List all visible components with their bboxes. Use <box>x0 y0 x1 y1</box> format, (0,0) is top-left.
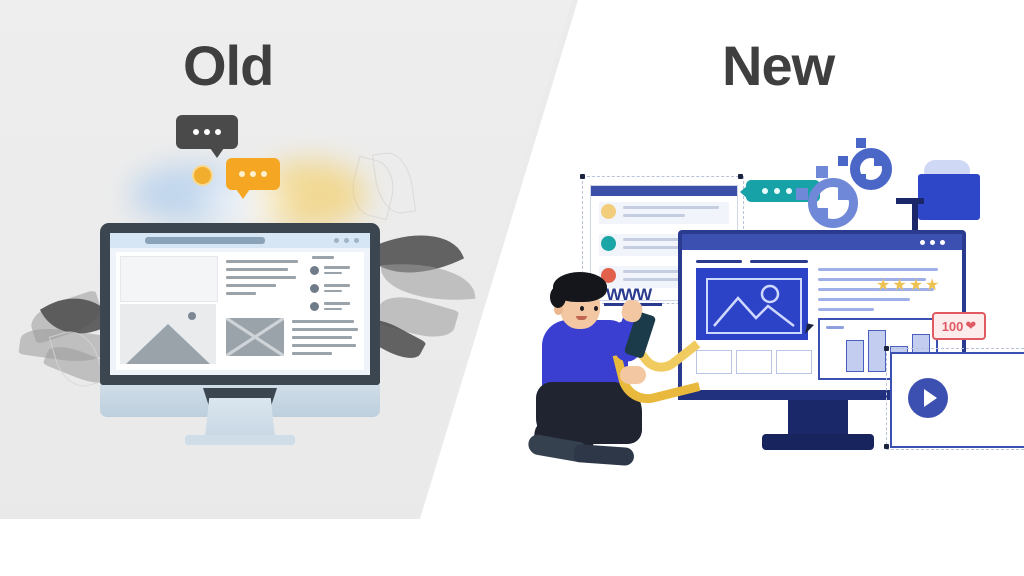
selection-handle[interactable] <box>738 174 743 179</box>
panel-line <box>623 206 719 209</box>
window-dot[interactable] <box>930 240 935 245</box>
bubble-dot <box>774 188 780 194</box>
play-button[interactable] <box>908 378 948 418</box>
person-hair <box>550 286 566 308</box>
old-monitor-base <box>185 435 295 445</box>
badge-count: 100 <box>942 319 964 334</box>
thumbnail-card[interactable] <box>696 350 732 374</box>
play-icon <box>924 389 937 407</box>
heart-icon: ❤ <box>965 318 976 334</box>
star-icon: ★ <box>909 278 923 294</box>
text-line <box>292 320 354 323</box>
browser-chrome <box>110 233 370 248</box>
bubble-dot <box>193 129 199 135</box>
list-bullet-icon <box>310 302 319 311</box>
text-line <box>292 336 352 339</box>
star-icon: ★ <box>892 278 906 294</box>
window-dot <box>334 238 339 243</box>
window-dot[interactable] <box>940 240 945 245</box>
chart-bar <box>868 330 886 372</box>
image-placeholder <box>120 304 216 364</box>
chart-axis-label <box>826 326 844 329</box>
selection-handle[interactable] <box>580 174 585 179</box>
likes-badge: 100 ❤ <box>932 312 986 340</box>
comparison-illustration: Old <box>0 0 1024 576</box>
gear-icon <box>808 178 858 228</box>
panel-line <box>623 278 685 281</box>
cursor-pointer-icon <box>805 323 814 335</box>
bubble-dot <box>762 188 768 194</box>
text-line <box>226 268 288 271</box>
thumbnail-card[interactable] <box>776 350 812 374</box>
gear-tooth <box>838 156 848 166</box>
gear-tooth <box>838 188 850 200</box>
mail-thumbnail-icon <box>226 318 284 356</box>
list-line <box>324 290 342 292</box>
text-line <box>226 276 296 279</box>
list-header-line <box>312 256 334 259</box>
bubble-dot <box>250 171 256 177</box>
list-line <box>324 308 342 310</box>
gear-tooth <box>856 138 866 148</box>
person-eye <box>594 306 598 311</box>
gear-tooth <box>874 156 884 166</box>
text-line <box>226 284 276 287</box>
url-bar <box>145 237 265 244</box>
list-bullet-icon <box>310 284 319 293</box>
image-dot-icon <box>188 312 196 320</box>
bubble-dot <box>204 129 210 135</box>
panel-line <box>623 214 685 217</box>
new-heading: New <box>722 38 834 94</box>
avatar-teal <box>601 236 616 251</box>
window-dot <box>344 238 349 243</box>
orange-chat-bubble-icon <box>226 158 280 190</box>
bubble-dot <box>261 171 267 177</box>
avatar-yellow <box>601 204 616 219</box>
thumbnail-card[interactable] <box>736 350 772 374</box>
gear-tooth <box>856 174 866 184</box>
dark-chat-bubble-icon <box>176 115 238 149</box>
person-eye <box>580 306 584 311</box>
window-dot[interactable] <box>920 240 925 245</box>
old-monitor-screen <box>110 233 370 375</box>
small-orange-circle-icon <box>192 165 213 186</box>
new-monitor-base <box>762 434 874 450</box>
new-illustration: WWW ★ ★ ★ ★ 100 ❤ <box>520 120 1024 520</box>
text-card <box>120 256 218 302</box>
list-line <box>324 302 350 305</box>
list-line <box>324 272 342 274</box>
list-line <box>324 266 350 269</box>
text-line <box>818 268 938 271</box>
image-frame-icon <box>706 278 802 334</box>
person-hand <box>620 366 646 384</box>
text-line <box>292 352 332 355</box>
text-line <box>292 344 356 347</box>
selection-handle[interactable] <box>884 346 889 351</box>
text-line <box>818 298 910 301</box>
folder-icon <box>918 174 980 220</box>
text-line <box>292 328 358 331</box>
old-monitor-stand <box>205 398 275 438</box>
person-shoe <box>573 444 634 466</box>
bubble-dot <box>786 188 792 194</box>
new-monitor-stand <box>788 400 848 436</box>
window-dot <box>354 238 359 243</box>
bubble-dot <box>239 171 245 177</box>
list-bullet-icon <box>310 266 319 275</box>
star-icon: ★ <box>876 278 890 294</box>
bubble-dot <box>215 129 221 135</box>
toolbar-line <box>750 260 808 263</box>
old-webpage <box>116 252 364 370</box>
star-rating: ★ ★ ★ ★ <box>876 278 939 294</box>
text-line <box>818 308 874 311</box>
text-line <box>226 292 256 295</box>
hero-image-placeholder <box>696 268 808 340</box>
old-illustration <box>0 0 520 519</box>
gear-tooth <box>816 208 828 220</box>
star-icon: ★ <box>925 278 939 294</box>
chart-bar <box>846 340 864 372</box>
text-line <box>226 260 298 263</box>
panel-line <box>623 246 685 249</box>
window-title-bar <box>682 234 962 250</box>
old-monitor <box>100 223 380 385</box>
gear-tooth <box>816 166 828 178</box>
gear-tooth <box>796 188 808 200</box>
toolbar-line <box>696 260 742 263</box>
selection-handle[interactable] <box>884 444 889 449</box>
connector-line <box>896 198 924 204</box>
panel-title-bar <box>591 186 737 196</box>
list-line <box>324 284 350 287</box>
photo-icon <box>708 280 800 332</box>
